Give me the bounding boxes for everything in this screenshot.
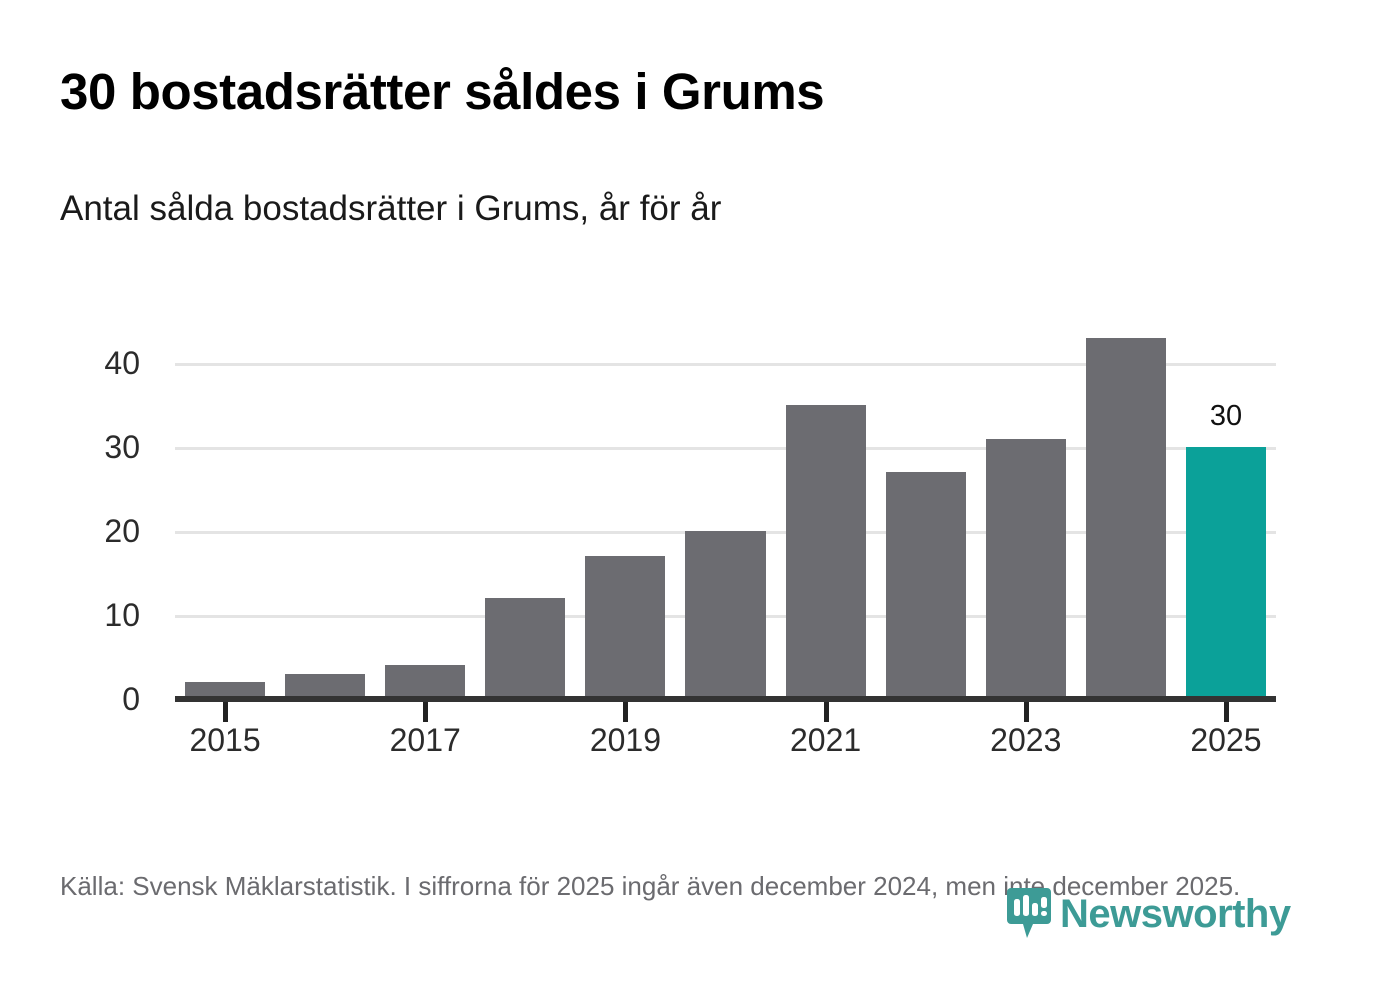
- y-axis-tick-label: 0: [60, 683, 140, 715]
- plot-area: [175, 330, 1276, 699]
- x-axis-tick: [1024, 702, 1029, 722]
- x-axis-line: [175, 696, 1276, 702]
- newsworthy-logo[interactable]: Newsworthy: [1007, 888, 1291, 940]
- logo-wordmark: Newsworthy: [1060, 894, 1291, 934]
- x-axis-tick: [223, 702, 228, 722]
- x-axis-tick-label: 2019: [590, 722, 661, 759]
- x-axis-tick: [623, 702, 628, 722]
- bar-chart: 01020304030201520172019202120232025: [0, 0, 1382, 999]
- x-axis-tick-label: 2023: [990, 722, 1061, 759]
- bar[interactable]: [1086, 338, 1166, 699]
- x-axis-tick-label: 2021: [790, 722, 861, 759]
- y-axis-tick-label: 10: [60, 599, 140, 631]
- x-axis-tick: [824, 702, 829, 722]
- x-axis-tick-label: 2015: [189, 722, 260, 759]
- x-axis-tick: [423, 702, 428, 722]
- bar[interactable]: [585, 556, 665, 699]
- x-axis-tick: [1224, 702, 1229, 722]
- newsworthy-bubble-barchart-icon: [1007, 888, 1051, 940]
- y-axis-tick-label: 30: [60, 431, 140, 463]
- bar[interactable]: [485, 598, 565, 699]
- chart-page: 30 bostadsrätter såldes i Grums Antal så…: [0, 0, 1382, 999]
- bar[interactable]: [1186, 447, 1266, 699]
- y-axis-tick-label: 20: [60, 515, 140, 547]
- bar[interactable]: [886, 472, 966, 699]
- bar[interactable]: [385, 665, 465, 699]
- bar[interactable]: [986, 439, 1066, 699]
- y-axis-tick-label: 40: [60, 347, 140, 379]
- bar-value-label: 30: [1210, 400, 1242, 433]
- bar[interactable]: [786, 405, 866, 699]
- bar[interactable]: [685, 531, 765, 699]
- x-axis-tick-label: 2025: [1190, 722, 1261, 759]
- x-axis-tick-label: 2017: [390, 722, 461, 759]
